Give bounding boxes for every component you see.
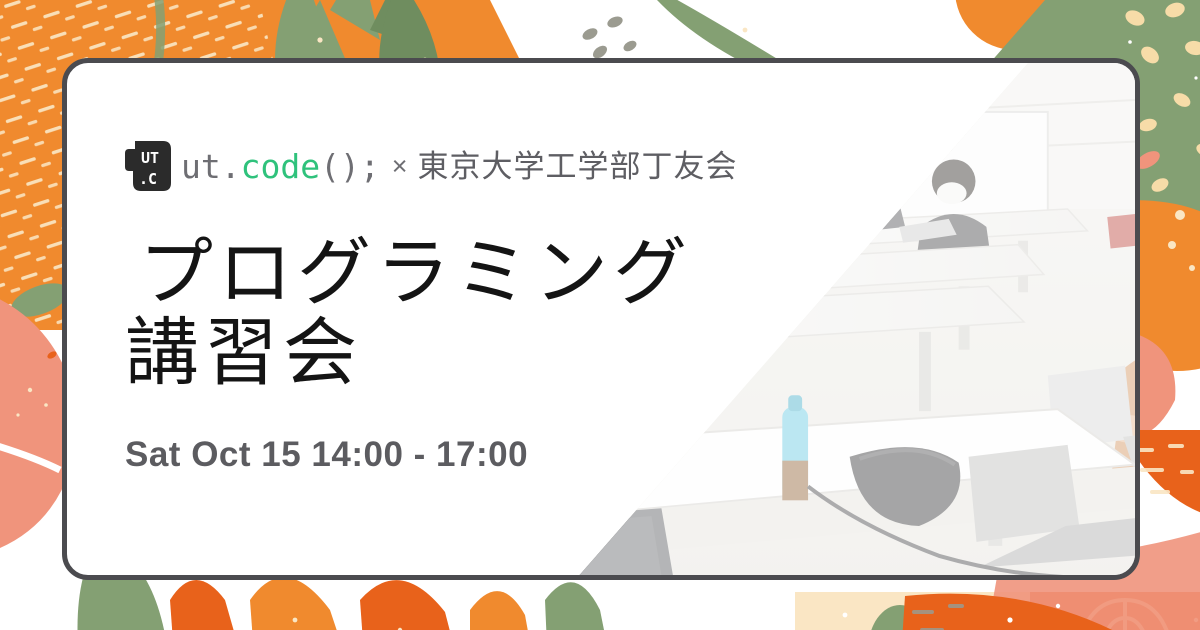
event-card: UT .C ut.code(); × 東京大学工学部丁友会 プログラミング 講習… <box>62 58 1140 580</box>
utcode-logo-icon: UT .C <box>125 141 171 191</box>
wordmark-prefix: ut. <box>181 147 241 186</box>
event-datetime: Sat Oct 15 14:00 - 17:00 <box>125 435 885 475</box>
utcode-wordmark: ut.code(); <box>181 150 380 183</box>
front-table <box>67 504 483 575</box>
cross-symbol-icon: × <box>392 153 408 180</box>
poster-canvas: UT .C ut.code(); × 東京大学工学部丁友会 プログラミング 講習… <box>0 0 1200 630</box>
partner-organization-name: 東京大学工学部丁友会 <box>417 151 737 182</box>
logo-glyph-top: UT <box>141 149 159 167</box>
logo-glyph-bottom: .C <box>139 170 157 188</box>
wordmark-suffix: (); <box>320 147 380 186</box>
wordmark-accent: code <box>241 147 320 186</box>
chairs-foreground <box>255 471 673 575</box>
event-title-line-2: 講習会 <box>125 313 885 393</box>
card-content: UT .C ut.code(); × 東京大学工学部丁友会 プログラミング 講習… <box>125 141 885 475</box>
event-title-line-1: プログラミング <box>139 233 885 313</box>
brand-row: UT .C ut.code(); × 東京大学工学部丁友会 <box>125 141 885 191</box>
